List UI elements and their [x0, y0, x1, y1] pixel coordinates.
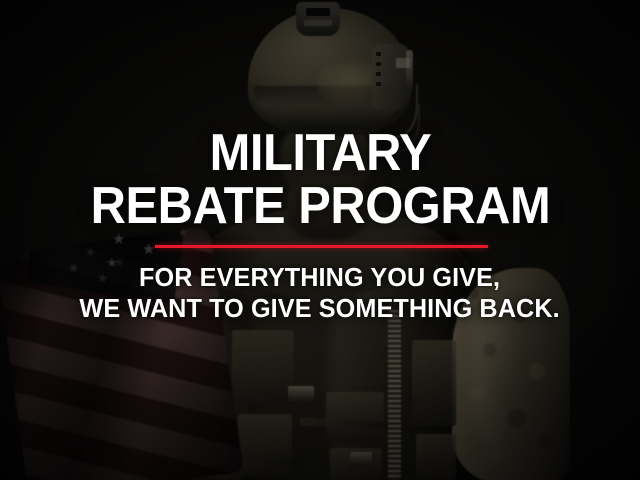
subtitle-line-1: FOR EVERYTHING YOU GIVE,: [139, 262, 500, 292]
headline-line-2: REBATE PROGRAM: [90, 180, 550, 233]
subtitle-line-2: WE WANT TO GIVE SOMETHING BACK.: [80, 293, 560, 324]
red-divider-rule: [155, 245, 488, 248]
military-rebate-program-banner: ★ ★ ★ ★ ★ ★ ★ ★ ★ ★ MILITARY REBATE PROG…: [0, 0, 640, 480]
banner-subtitle: FOR EVERYTHING YOU GIVE, WE WANT TO GIVE…: [80, 262, 560, 324]
page-title: MILITARY REBATE PROGRAM: [90, 127, 550, 233]
banner-content: MILITARY REBATE PROGRAM FOR EVERYTHING Y…: [0, 0, 640, 480]
headline-line-1: MILITARY: [209, 124, 431, 182]
